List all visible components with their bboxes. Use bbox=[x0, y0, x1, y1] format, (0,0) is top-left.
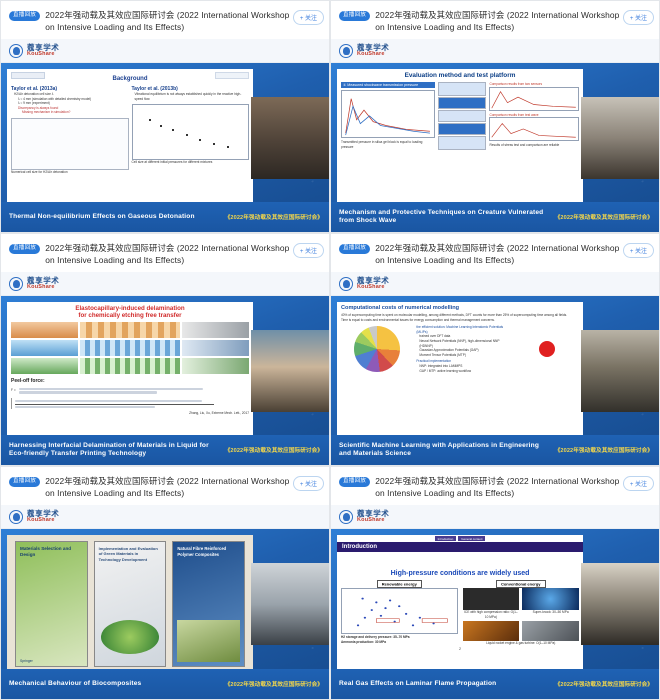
slide-energy-density-chart bbox=[341, 588, 458, 634]
speaker-webcam bbox=[581, 563, 659, 645]
video-stage[interactable]: Computational costs of numerical modelli… bbox=[331, 296, 659, 465]
recording-card[interactable]: 直播回放 2022年强动载及其效应国际研讨会 (2022 Internation… bbox=[0, 466, 330, 700]
conference-footer-meta: 《2022年强动载及其效应国际研讨会》 bbox=[555, 680, 653, 688]
brand-name-cn: 蔻享学术 bbox=[27, 277, 59, 285]
conference-title-cn: 2022年强动载及其效应国际研讨会 bbox=[375, 10, 504, 20]
slide-photo-caption: Super-knock: 30–50 MPa bbox=[522, 610, 579, 615]
slide-footnote: Zhang, Liu, Xu, Extreme Mech. Lett., 201… bbox=[11, 411, 249, 416]
presentation-slide: Evaluation method and test platform ① Me… bbox=[337, 69, 583, 207]
conference-footer-meta: 《2022年强动载及其效应国际研讨会》 bbox=[225, 213, 323, 221]
caption-bar: Real Gas Effects on Laminar Flame Propag… bbox=[331, 669, 659, 699]
live-replay-badge: 直播回放 bbox=[9, 477, 40, 488]
slide-note: Time is equal to costs and environmental… bbox=[341, 318, 579, 323]
follow-button[interactable]: + 关注 bbox=[293, 10, 324, 25]
talk-title: Scientific Machine Learning with Applica… bbox=[339, 442, 549, 459]
koushare-logo-icon bbox=[339, 44, 353, 58]
conference-title: 2022年强动载及其效应国际研讨会 (2022 International Wo… bbox=[375, 9, 625, 33]
slide-bullet: Neural Network Potentials (NNP), high-di… bbox=[419, 339, 511, 348]
conference-title: 2022年强动载及其效应国际研讨会 (2022 International Wo… bbox=[45, 475, 295, 499]
slide-tab: General context bbox=[458, 536, 485, 541]
book-title: Materials Selection and Design bbox=[20, 546, 83, 558]
book-cover-graphic bbox=[177, 620, 240, 662]
caption-bar: Scientific Machine Learning with Applica… bbox=[331, 435, 659, 465]
brand-name-en: KouShare bbox=[27, 52, 59, 58]
slide-pressure-curves bbox=[341, 90, 435, 138]
slide-diagram bbox=[11, 340, 78, 356]
slide-table-block bbox=[438, 123, 487, 135]
conference-title-cn: 2022年强动载及其效应国际研讨会 bbox=[45, 10, 174, 20]
speaker-video-frame bbox=[581, 563, 659, 645]
card-header: 直播回放 2022年强动载及其效应国际研讨会 (2022 Internation… bbox=[1, 1, 329, 39]
slide-molecule-graphic bbox=[539, 341, 555, 357]
presentation-slide: Elastocapillary-induced delamination for… bbox=[7, 302, 253, 440]
koushare-brandbar: 蔻享学术 KouShare bbox=[331, 272, 659, 296]
speaker-video-frame bbox=[251, 563, 329, 645]
presentation-slide: Computational costs of numerical modelli… bbox=[337, 302, 583, 440]
slide-figure-caption: Cell size at different initial pressures… bbox=[132, 160, 250, 165]
talk-title: Harnessing Interfacial Delamination of M… bbox=[9, 442, 219, 459]
koushare-brandbar: 蔻享学术 KouShare bbox=[331, 505, 659, 529]
conference-footer-meta: 《2022年强动载及其效应国际研讨会》 bbox=[555, 446, 653, 454]
slide-photo bbox=[522, 621, 579, 641]
follow-button[interactable]: + 关注 bbox=[623, 476, 654, 491]
card-header: 直播回放 2022年强动载及其效应国际研讨会 (2022 Internation… bbox=[331, 467, 659, 505]
live-replay-badge: 直播回放 bbox=[339, 244, 370, 255]
slide-logo-left bbox=[11, 72, 45, 79]
speaker-video-frame bbox=[581, 97, 659, 179]
recording-card[interactable]: 直播回放 2022年强动载及其效应国际研讨会 (2022 Internation… bbox=[0, 233, 330, 466]
presentation-slide: Materials Selection and Design Springer … bbox=[7, 535, 253, 673]
recording-card[interactable]: 直播回放 2022年强动载及其效应国际研讨会 (2022 Internation… bbox=[330, 233, 660, 466]
slide-photo-caption: ICE with high compression ratio: O(1–10 … bbox=[463, 610, 520, 619]
slide-heading: Background bbox=[112, 76, 147, 82]
live-replay-badge: 直播回放 bbox=[339, 477, 370, 488]
slide-table-block bbox=[438, 136, 487, 150]
caption-bar: Harnessing Interfacial Delamination of M… bbox=[1, 435, 329, 465]
speaker-video-frame bbox=[251, 97, 329, 179]
slide-section-banner: Introduction bbox=[337, 542, 583, 552]
conference-title-cn: 2022年强动载及其效应国际研讨会 bbox=[45, 476, 174, 486]
koushare-logo-icon bbox=[9, 44, 23, 58]
caption-bar: Mechanical Behaviour of Biocomposites 《2… bbox=[1, 669, 329, 699]
caption-bar: Mechanism and Protective Techniques on C… bbox=[331, 202, 659, 232]
speaker-webcam bbox=[581, 97, 659, 179]
brand-name-en: KouShare bbox=[357, 285, 389, 291]
slide-diagram bbox=[80, 358, 180, 374]
slide-photo bbox=[522, 588, 579, 610]
koushare-brandbar: 蔻享学术 KouShare bbox=[1, 505, 329, 529]
slide-diagram bbox=[80, 340, 180, 356]
brand-name-cn: 蔻享学术 bbox=[27, 510, 59, 518]
slide-bullet: Missing mechanism in simulation? bbox=[22, 110, 129, 115]
slide-scatter-plot bbox=[132, 104, 250, 160]
brand-name-en: KouShare bbox=[357, 52, 389, 58]
slide-diagram bbox=[11, 322, 78, 338]
slide-left-title: ① Measured shockwave transmission pressu… bbox=[341, 82, 435, 88]
card-header: 直播回放 2022年强动载及其效应国际研讨会 (2022 Internation… bbox=[1, 234, 329, 272]
book-title: Implementation and Evaluation of Green M… bbox=[99, 546, 162, 562]
slide-diagram bbox=[182, 322, 249, 338]
slide-figure-caption: Numerical cell size for H2/Air detonatio… bbox=[11, 170, 129, 175]
video-stage[interactable]: Background Taylor et al. (2013a) H2/Air … bbox=[1, 63, 329, 232]
slide-pie-chart bbox=[354, 326, 400, 372]
slide-bullet: GAP / MTP: active learning workflow bbox=[419, 369, 511, 374]
brand-name-cn: 蔻享学术 bbox=[357, 44, 389, 52]
brand-name-cn: 蔻享学术 bbox=[27, 44, 59, 52]
slide-diagram bbox=[11, 358, 78, 374]
slide-table-block bbox=[438, 97, 487, 109]
slide-subheading: Peel-off force: bbox=[11, 378, 249, 384]
live-replay-badge: 直播回放 bbox=[339, 11, 370, 22]
live-replay-badge: 直播回放 bbox=[9, 11, 40, 22]
conference-title-cn: 2022年强动载及其效应国际研讨会 bbox=[375, 476, 504, 486]
speaker-webcam bbox=[251, 563, 329, 645]
slide-photo bbox=[463, 621, 520, 641]
slide-diagram bbox=[182, 340, 249, 356]
book-cover-graphic bbox=[101, 620, 160, 654]
recording-card[interactable]: 直播回放 2022年强动载及其效应国际研讨会 (2022 Internation… bbox=[330, 0, 660, 233]
follow-button[interactable]: + 关注 bbox=[623, 243, 654, 258]
talk-title: Real Gas Effects on Laminar Flame Propag… bbox=[339, 680, 496, 688]
speaker-webcam bbox=[581, 330, 659, 412]
slide-box-label: Renewable energy bbox=[377, 580, 422, 588]
koushare-brandbar: 蔻享学术 KouShare bbox=[1, 272, 329, 296]
talk-title: Mechanical Behaviour of Biocomposites bbox=[9, 680, 141, 688]
koushare-brandbar: 蔻享学术 KouShare bbox=[331, 39, 659, 63]
slide-figure-left bbox=[11, 118, 129, 170]
recording-thumbnail-grid: 直播回放 2022年强动载及其效应国际研讨会 (2022 Internation… bbox=[0, 0, 660, 700]
slide-heading: High-pressure conditions are widely used bbox=[341, 570, 579, 577]
recording-card[interactable]: 直播回放 2022年强动载及其效应国际研讨会 (2022 Internation… bbox=[330, 466, 660, 700]
slide-subheading: for chemically etching free transfer bbox=[11, 312, 249, 319]
koushare-logo-icon bbox=[9, 277, 23, 291]
slide-comparison-plot bbox=[489, 87, 579, 111]
conference-title: 2022年强动载及其效应国际研讨会 (2022 International Wo… bbox=[45, 242, 295, 266]
koushare-logo-icon bbox=[9, 510, 23, 524]
conference-footer-meta: 《2022年强动载及其效应国际研讨会》 bbox=[225, 446, 323, 454]
video-stage[interactable]: Evaluation method and test platform ① Me… bbox=[331, 63, 659, 232]
slide-box-label: Conventional energy bbox=[496, 580, 546, 588]
follow-button[interactable]: + 关注 bbox=[293, 476, 324, 491]
slide-diagram bbox=[182, 358, 249, 374]
speaker-webcam bbox=[251, 330, 329, 412]
card-header: 直播回放 2022年强动载及其效应国际研讨会 (2022 Internation… bbox=[1, 467, 329, 505]
caption-bar: Thermal Non-equilibrium Effects on Gaseo… bbox=[1, 202, 329, 232]
slide-photo-caption: Liquid rocket engine & gas turbine: O(1–… bbox=[463, 641, 580, 646]
slide-note: Results of stress test and comparison ar… bbox=[489, 143, 579, 148]
conference-footer-meta: 《2022年强动载及其效应国际研讨会》 bbox=[225, 680, 323, 688]
koushare-logo-icon bbox=[339, 277, 353, 291]
slide-note: 40% of supercomputing time is spent on m… bbox=[341, 313, 579, 318]
slide-heading: Computational costs of numerical modelli… bbox=[341, 305, 579, 311]
slide-diagram bbox=[80, 322, 180, 338]
conference-title-cn: 2022年强动载及其效应国际研讨会 bbox=[45, 243, 174, 253]
brand-name-en: KouShare bbox=[27, 518, 59, 524]
slide-comparison-plot bbox=[489, 117, 579, 141]
slide-heading: Evaluation method and test platform bbox=[341, 72, 579, 79]
talk-title: Mechanism and Protective Techniques on C… bbox=[339, 209, 549, 226]
speaker-video-frame bbox=[251, 330, 329, 412]
video-stage[interactable]: Introduction General context Introductio… bbox=[331, 529, 659, 699]
talk-title: Thermal Non-equilibrium Effects on Gaseo… bbox=[9, 213, 195, 221]
brand-name-en: KouShare bbox=[357, 518, 389, 524]
slide-bullet-title: the efficient solution: Machine Learning… bbox=[416, 325, 511, 334]
slide-tab: Introduction bbox=[435, 536, 457, 541]
slide-logo-right bbox=[215, 72, 249, 79]
conference-title: 2022年强动载及其效应国际研讨会 (2022 International Wo… bbox=[375, 242, 625, 266]
slide-table-block bbox=[438, 110, 487, 122]
presentation-slide: Introduction General context Introductio… bbox=[337, 535, 583, 673]
conference-footer-meta: 《2022年强动载及其效应国际研讨会》 bbox=[555, 213, 653, 221]
speaker-video-frame bbox=[581, 330, 659, 412]
recording-card[interactable]: 直播回放 2022年强动载及其效应国际研讨会 (2022 Internation… bbox=[0, 0, 330, 233]
speaker-webcam bbox=[251, 97, 329, 179]
card-header: 直播回放 2022年强动载及其效应国际研讨会 (2022 Internation… bbox=[331, 234, 659, 272]
koushare-brandbar: 蔻享学术 KouShare bbox=[1, 39, 329, 63]
conference-title-cn: 2022年强动载及其效应国际研讨会 bbox=[375, 243, 504, 253]
conference-title: 2022年强动载及其效应国际研讨会 (2022 International Wo… bbox=[45, 9, 295, 33]
slide-heading: Elastocapillary-induced delamination bbox=[11, 305, 249, 312]
book-title: Natural Fibre Reinforced Polymer Composi… bbox=[177, 546, 240, 557]
card-header: 直播回放 2022年强动载及其效应国际研讨会 (2022 Internation… bbox=[331, 1, 659, 39]
koushare-logo-icon bbox=[339, 510, 353, 524]
brand-name-en: KouShare bbox=[27, 285, 59, 291]
slide-bullet: Vibrational equilibrium is not always es… bbox=[135, 92, 250, 101]
follow-button[interactable]: + 关注 bbox=[623, 10, 654, 25]
live-replay-badge: 直播回放 bbox=[9, 244, 40, 255]
conference-title: 2022年强动载及其效应国际研讨会 (2022 International Wo… bbox=[375, 475, 625, 499]
brand-name-cn: 蔻享学术 bbox=[357, 277, 389, 285]
video-stage[interactable]: Materials Selection and Design Springer … bbox=[1, 529, 329, 699]
slide-page-number: 2 bbox=[341, 647, 579, 652]
video-stage[interactable]: Elastocapillary-induced delamination for… bbox=[1, 296, 329, 465]
slide-bullet: Moment Tensor Potentials (MTP) bbox=[419, 353, 511, 358]
brand-name-cn: 蔻享学术 bbox=[357, 510, 389, 518]
slide-note: Transmitted pressure in silica gel block… bbox=[341, 140, 435, 149]
slide-photo bbox=[463, 588, 520, 610]
follow-button[interactable]: + 关注 bbox=[293, 243, 324, 258]
slide-note: Ammonia production: 30 MPa bbox=[341, 640, 458, 645]
slide-table-block bbox=[438, 82, 487, 96]
presentation-slide: Background Taylor et al. (2013a) H2/Air … bbox=[7, 69, 253, 207]
